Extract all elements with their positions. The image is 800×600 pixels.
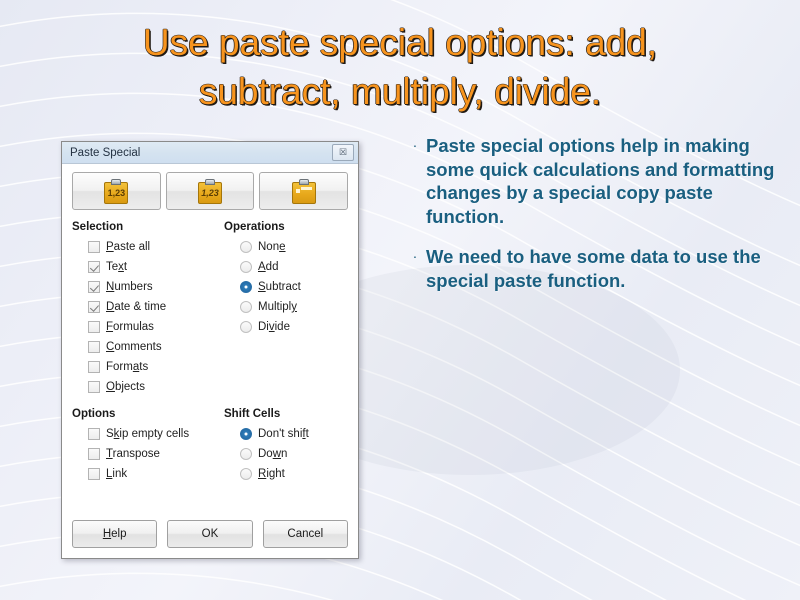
clipboard-icon-label: 1,23: [198, 188, 222, 198]
checkbox-label: Transpose: [106, 448, 160, 460]
checkbox-comments[interactable]: Comments: [88, 337, 224, 357]
operations-heading: Operations: [224, 221, 348, 233]
checkbox-date-time[interactable]: Date & time: [88, 297, 224, 317]
checkbox-icon[interactable]: [88, 448, 100, 460]
checkbox-numbers[interactable]: Numbers: [88, 277, 224, 297]
cancel-button[interactable]: Cancel: [263, 520, 348, 548]
slide-canvas: Use paste special options: add, subtract…: [0, 0, 800, 600]
options-group: Options Skip empty cells Transpose Li: [72, 406, 224, 484]
bullet-point-icon: ·: [404, 245, 426, 268]
selection-group: Selection Paste all Text Numbers: [72, 219, 224, 397]
paste-preset-button-row: 1,23 1,23: [72, 172, 348, 210]
bullet-list: · Paste special options help in making s…: [404, 134, 790, 309]
radio-icon[interactable]: [240, 321, 252, 333]
radio-icon[interactable]: [240, 261, 252, 273]
shift-cells-group: Shift Cells Don't shift Down Right: [224, 406, 348, 484]
radio-icon-selected[interactable]: [240, 281, 252, 293]
checkbox-icon[interactable]: [88, 241, 100, 253]
operations-group: Operations None Add Subtract: [224, 219, 348, 397]
options-heading: Options: [72, 408, 224, 420]
dialog-body: 1,23 1,23 Selec: [62, 164, 358, 558]
checkbox-transpose[interactable]: Transpose: [88, 444, 224, 464]
bullet-text: Paste special options help in making som…: [426, 134, 790, 228]
options-shiftcells-row: Options Skip empty cells Transpose Li: [72, 406, 348, 484]
list-item: · We need to have some data to use the s…: [404, 245, 790, 292]
checkbox-label: Date & time: [106, 301, 166, 313]
dialog-button-row: Help OK Cancel: [72, 520, 348, 548]
radio-icon[interactable]: [240, 301, 252, 313]
checkbox-icon[interactable]: [88, 321, 100, 333]
checkbox-paste-all[interactable]: Paste all: [88, 237, 224, 257]
radio-label: Down: [258, 448, 287, 460]
radio-right[interactable]: Right: [240, 464, 348, 484]
checkbox-icon[interactable]: [88, 341, 100, 353]
checkbox-icon[interactable]: [88, 468, 100, 480]
list-item: · Paste special options help in making s…: [404, 134, 790, 228]
selection-heading: Selection: [72, 221, 224, 233]
radio-label: Don't shift: [258, 428, 309, 440]
clipboard-formats-icon: [292, 179, 316, 204]
page-title: Use paste special options: add, subtract…: [30, 18, 770, 116]
checkbox-label: Link: [106, 468, 127, 480]
bullet-text: We need to have some data to use the spe…: [426, 245, 790, 292]
radio-icon[interactable]: [240, 241, 252, 253]
dialog-title: Paste Special: [70, 147, 332, 159]
paste-special-dialog: Paste Special ☒ 1,23 1,23: [61, 141, 359, 559]
paste-formats-icon-button[interactable]: [259, 172, 348, 210]
shift-cells-radio-list: Don't shift Down Right: [240, 424, 348, 484]
checkbox-icon[interactable]: [88, 428, 100, 440]
clipboard-icon-label: 1,23: [104, 188, 128, 198]
operations-radio-list: None Add Subtract Multiply: [240, 237, 348, 337]
checkbox-label: Paste all: [106, 241, 150, 253]
radio-label: Multiply: [258, 301, 297, 313]
radio-icon[interactable]: [240, 468, 252, 480]
checkbox-icon[interactable]: [88, 361, 100, 373]
shift-cells-heading: Shift Cells: [224, 408, 348, 420]
radio-label: None: [258, 241, 286, 253]
radio-dont-shift[interactable]: Don't shift: [240, 424, 348, 444]
checkbox-icon-checked[interactable]: [88, 301, 100, 313]
bullet-point-icon: ·: [404, 134, 426, 157]
checkbox-link[interactable]: Link: [88, 464, 224, 484]
checkbox-skip-empty-cells[interactable]: Skip empty cells: [88, 424, 224, 444]
options-checkbox-list: Skip empty cells Transpose Link: [88, 424, 224, 484]
checkbox-icon[interactable]: [88, 381, 100, 393]
checkbox-formats[interactable]: Formats: [88, 357, 224, 377]
radio-label: Add: [258, 261, 278, 273]
checkbox-label: Objects: [106, 381, 145, 393]
close-icon[interactable]: ☒: [332, 144, 354, 161]
radio-subtract[interactable]: Subtract: [240, 277, 348, 297]
radio-multiply[interactable]: Multiply: [240, 297, 348, 317]
radio-icon-selected[interactable]: [240, 428, 252, 440]
radio-label: Subtract: [258, 281, 301, 293]
clipboard-icon: 1,23: [104, 179, 128, 204]
checkbox-label: Numbers: [106, 281, 153, 293]
ok-button[interactable]: OK: [167, 520, 252, 548]
checkbox-text[interactable]: Text: [88, 257, 224, 277]
checkbox-label: Formulas: [106, 321, 154, 333]
radio-label: Right: [258, 468, 285, 480]
help-button[interactable]: Help: [72, 520, 157, 548]
checkbox-label: Skip empty cells: [106, 428, 189, 440]
checkbox-label: Text: [106, 261, 127, 273]
radio-down[interactable]: Down: [240, 444, 348, 464]
radio-add[interactable]: Add: [240, 257, 348, 277]
radio-none[interactable]: None: [240, 237, 348, 257]
paste-all-icon-button[interactable]: 1,23: [72, 172, 161, 210]
checkbox-label: Formats: [106, 361, 148, 373]
checkbox-formulas[interactable]: Formulas: [88, 317, 224, 337]
selection-checkbox-list: Paste all Text Numbers Date & time: [88, 237, 224, 397]
radio-divide[interactable]: Divide: [240, 317, 348, 337]
checkbox-icon-checked[interactable]: [88, 261, 100, 273]
checkbox-label: Comments: [106, 341, 162, 353]
clipboard-italic-icon: 1,23: [198, 179, 222, 204]
radio-icon[interactable]: [240, 448, 252, 460]
checkbox-icon-checked[interactable]: [88, 281, 100, 293]
dialog-titlebar: Paste Special ☒: [62, 142, 358, 164]
selection-operations-row: Selection Paste all Text Numbers: [72, 219, 348, 397]
radio-label: Divide: [258, 321, 290, 333]
title-line-1: Use paste special options: add,: [30, 18, 770, 67]
checkbox-objects[interactable]: Objects: [88, 377, 224, 397]
title-line-2: subtract, multiply, divide.: [30, 67, 770, 116]
paste-values-icon-button[interactable]: 1,23: [166, 172, 255, 210]
